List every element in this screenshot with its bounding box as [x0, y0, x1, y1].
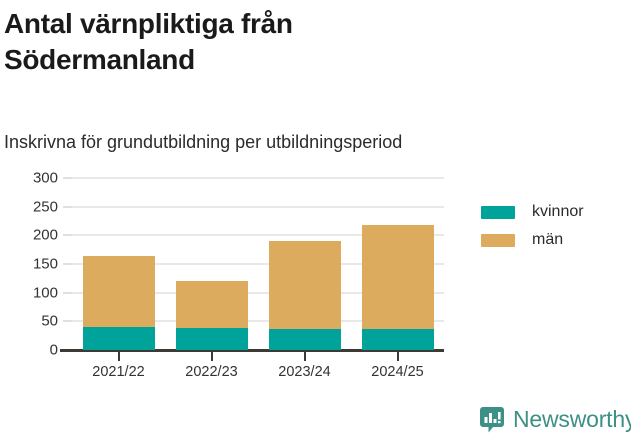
chart-subtitle: Inskrivna för grundutbildning per utbild… — [4, 131, 604, 154]
x-tick-mark — [304, 352, 306, 361]
y-tick-mark — [63, 206, 72, 208]
y-tick-mark — [63, 320, 72, 322]
y-tick-mark — [63, 292, 72, 294]
bar-2023-24[interactable] — [269, 178, 341, 350]
x-axis-label: 2024/25 — [371, 364, 423, 380]
y-tick-mark — [63, 263, 72, 265]
y-axis-label: 200 — [33, 227, 58, 244]
bar-segment-män[interactable] — [83, 256, 155, 327]
bar-segment-kvinnor[interactable] — [362, 329, 434, 350]
y-axis-label: 100 — [33, 284, 58, 301]
x-tick-mark — [211, 352, 213, 361]
legend-label-kvinnor: kvinnor — [532, 203, 584, 221]
chart-legend: kvinnor män — [481, 198, 584, 254]
x-axis-label: 2021/22 — [92, 364, 144, 380]
y-tick-mark — [63, 177, 72, 179]
legend-swatch-man — [481, 234, 515, 247]
legend-swatch-kvinnor — [481, 206, 515, 219]
x-axis-label: 2023/24 — [278, 364, 330, 380]
page-title: Antal värnpliktiga från Södermanland — [4, 6, 474, 78]
bar-chart-speech-bubble-icon — [480, 407, 504, 433]
y-axis-label: 0 — [50, 342, 58, 359]
bar-2024-25[interactable] — [362, 178, 434, 350]
bar-segment-kvinnor[interactable] — [176, 328, 248, 350]
y-axis-label: 150 — [33, 256, 58, 273]
bar-segment-kvinnor[interactable] — [269, 329, 341, 350]
plot-area: 0501001502002503002021/222022/232023/242… — [72, 178, 444, 350]
y-tick-mark — [63, 234, 72, 236]
bar-2022-23[interactable] — [176, 178, 248, 350]
bar-segment-män[interactable] — [176, 281, 248, 329]
bar-segment-män[interactable] — [362, 225, 434, 329]
newsworthy-logo[interactable]: Newsworthy — [480, 406, 631, 433]
x-tick-mark — [118, 352, 120, 361]
x-tick-mark — [397, 352, 399, 361]
legend-item-kvinnor[interactable]: kvinnor — [481, 198, 584, 226]
legend-label-man: män — [532, 231, 563, 249]
chart-page: Antal värnpliktiga från Södermanland Ins… — [0, 0, 631, 439]
legend-item-man[interactable]: män — [481, 226, 584, 254]
x-axis-label: 2022/23 — [185, 364, 237, 380]
bar-2021-22[interactable] — [83, 178, 155, 350]
brand-name: Newsworthy — [513, 406, 631, 433]
y-axis-label: 300 — [33, 170, 58, 187]
bar-segment-kvinnor[interactable] — [83, 327, 155, 351]
y-axis-label: 250 — [33, 198, 58, 215]
bar-segment-män[interactable] — [269, 241, 341, 329]
y-axis-label: 50 — [41, 313, 58, 330]
